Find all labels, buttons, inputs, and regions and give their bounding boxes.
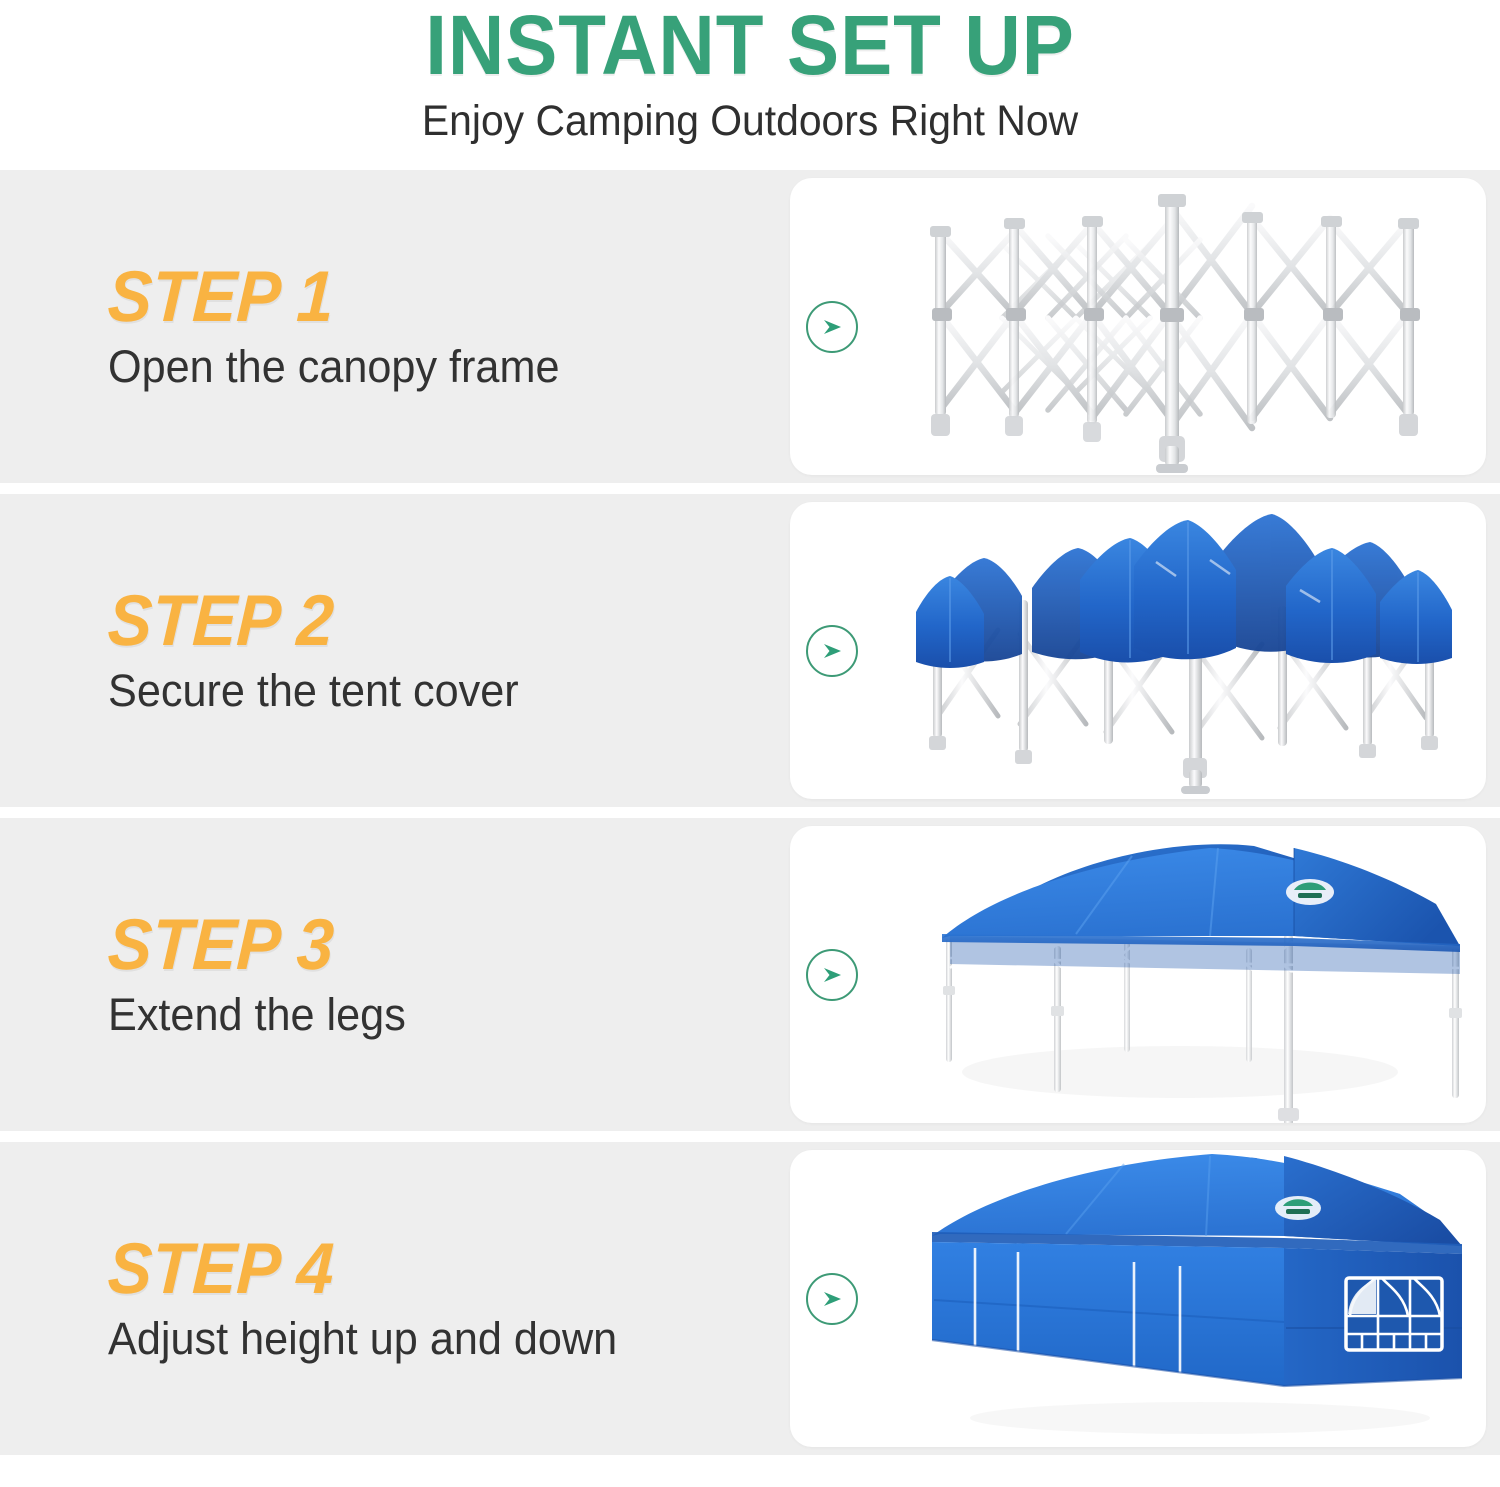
brand-logo-badge: [1275, 1196, 1321, 1220]
step-text-block-3: STEP 3 Extend the legs: [108, 818, 708, 1131]
illustration-canopy-frame-expanded: [880, 178, 1486, 475]
arrow-right-circle-icon: [806, 301, 858, 353]
step-label-1: STEP 1: [106, 260, 662, 334]
step-image-card-2: [790, 502, 1486, 799]
steps-list: STEP 1 Open the canopy frame: [0, 170, 1500, 1455]
illustration-canopy-with-sidewalls: [880, 1150, 1486, 1447]
step-row-2: STEP 2 Secure the tent cover: [0, 494, 1500, 807]
step-label-4: STEP 4: [106, 1232, 662, 1306]
arrow-right-circle-icon: [806, 625, 858, 677]
step-row-3: STEP 3 Extend the legs: [0, 818, 1500, 1131]
page-subtitle: Enjoy Camping Outdoors Right Now: [38, 88, 1463, 146]
step-row-1: STEP 1 Open the canopy frame: [0, 170, 1500, 483]
illustration-canopy-cover-draped: [880, 502, 1486, 799]
step-label-2: STEP 2: [106, 584, 662, 658]
step-description-2: Secure the tent cover: [108, 664, 684, 718]
step-image-card-3: [790, 826, 1486, 1123]
illustration-canopy-legs-extended: [880, 826, 1486, 1123]
step-text-block-4: STEP 4 Adjust height up and down: [108, 1142, 708, 1455]
page-title: INSTANT SET UP: [53, 0, 1448, 88]
arrow-right-circle-icon: [806, 949, 858, 1001]
step-text-block-1: STEP 1 Open the canopy frame: [108, 170, 708, 483]
step-description-1: Open the canopy frame: [108, 340, 684, 394]
brand-logo-badge: [1286, 879, 1334, 905]
step-image-card-1: [790, 178, 1486, 475]
window-panel: [1346, 1278, 1442, 1350]
step-image-card-4: [790, 1150, 1486, 1447]
page-header: INSTANT SET UP Enjoy Camping Outdoors Ri…: [0, 0, 1500, 170]
step-description-4: Adjust height up and down: [108, 1312, 684, 1366]
step-row-4: STEP 4 Adjust height up and down: [0, 1142, 1500, 1455]
step-text-block-2: STEP 2 Secure the tent cover: [108, 494, 708, 807]
step-label-3: STEP 3: [106, 908, 662, 982]
arrow-right-circle-icon: [806, 1273, 858, 1325]
step-description-3: Extend the legs: [108, 988, 684, 1042]
